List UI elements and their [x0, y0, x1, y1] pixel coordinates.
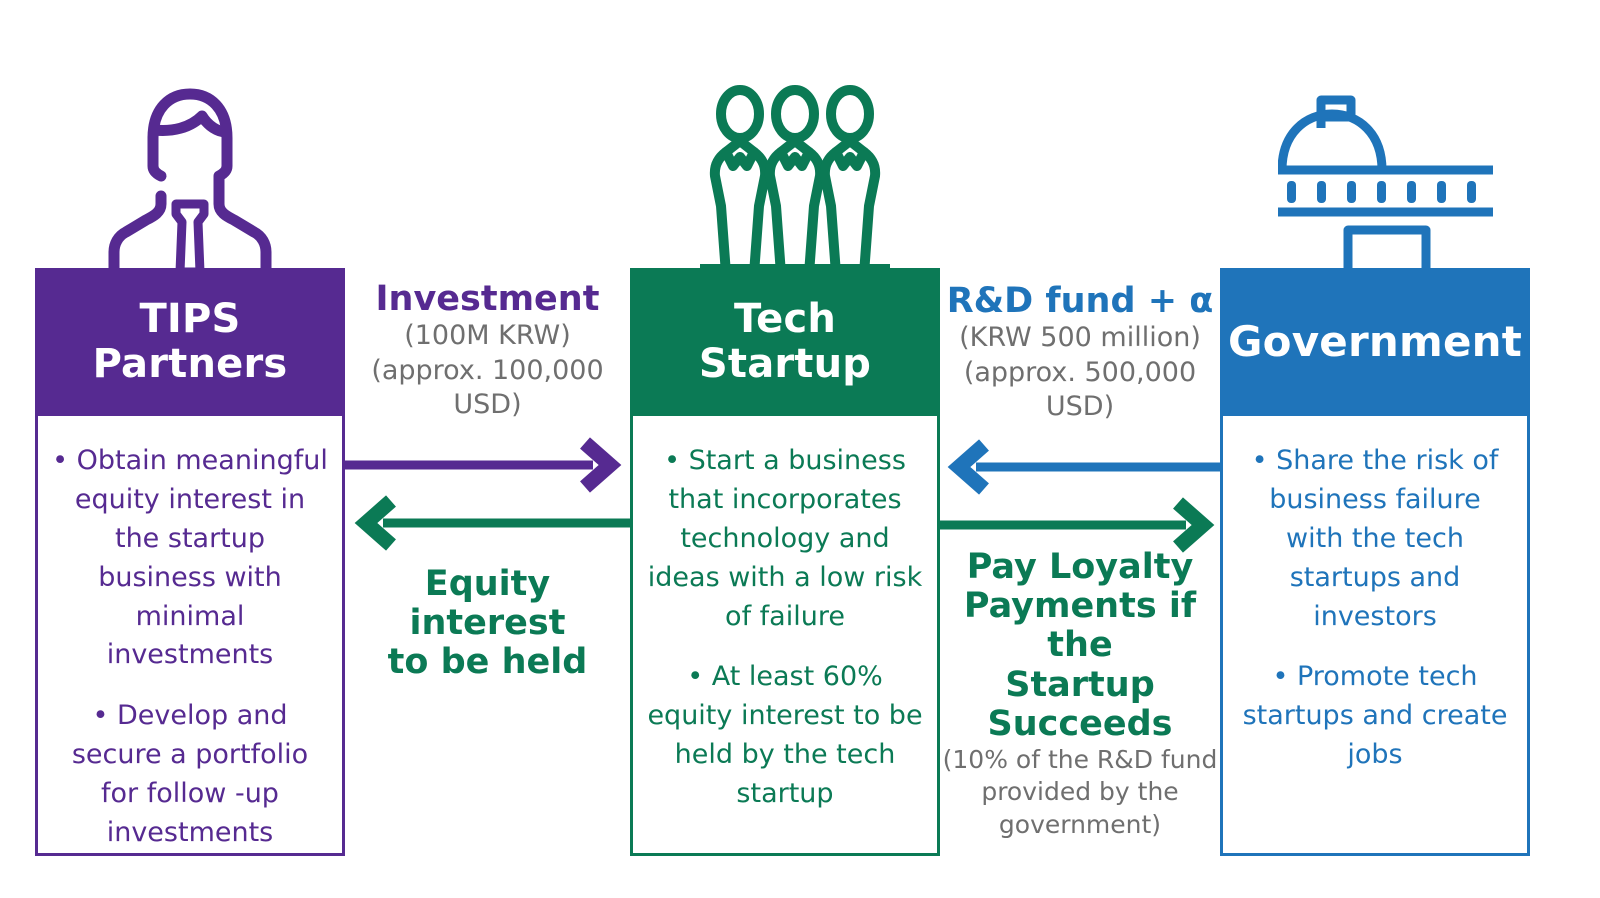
list-item: • Promote tech startups and create jobs [1237, 658, 1513, 775]
loyalty-payment-label-group: Pay Loyalty Payments if the Startup Succ… [940, 548, 1220, 841]
government-title: Government [1228, 318, 1522, 365]
list-item: • Start a business that incorporates tec… [647, 442, 923, 636]
list-item: • Share the risk of business failure wit… [1237, 442, 1513, 636]
loyalty-label-line1: Pay Loyalty [940, 548, 1220, 587]
column-tech-startup: Tech Startup • Start a business that inc… [630, 268, 940, 856]
equity-interest-label-line1: Equity interest [345, 565, 630, 643]
column-tips-partners: TIPS Partners • Obtain meaningful equity… [35, 268, 345, 856]
connector-startup-to-government: R&D fund + α (KRW 500 million) (approx. … [940, 282, 1220, 555]
list-item: • At least 60% equity interest to be hel… [647, 658, 923, 814]
tips-partners-title-line2: Partners [93, 341, 288, 387]
equity-interest-label-line2: to be held [345, 643, 630, 682]
tips-partners-title-line1: TIPS [139, 296, 240, 342]
loyalty-note-line2: provided by the [940, 776, 1220, 809]
equity-interest-label-group: Equity interest to be held [345, 565, 630, 683]
tips-partners-bullet-list: • Obtain meaningful equity interest in t… [52, 442, 328, 853]
list-item: • Obtain meaningful equity interest in t… [52, 442, 328, 675]
diagram-canvas: TIPS Partners • Obtain meaningful equity… [0, 0, 1600, 898]
tips-partners-header: TIPS Partners [35, 268, 345, 416]
rnd-and-loyalty-arrows [940, 425, 1220, 555]
tech-startup-header: Tech Startup [630, 268, 940, 416]
rnd-fund-amount-usd: (approx. 500,000 USD) [940, 356, 1220, 425]
list-item: • Develop and secure a portfolio for fol… [52, 697, 328, 853]
team-of-three-people-icon [700, 84, 890, 278]
government-building-icon [1278, 78, 1493, 282]
connector-tips-to-startup: Investment (100M KRW) (approx. 100,000 U… [345, 280, 630, 553]
investment-arrow [345, 423, 630, 553]
loyalty-note-line1: (10% of the R&D fund [940, 744, 1220, 777]
tech-startup-title-line1: Tech [734, 296, 836, 342]
investment-amount-krw: (100M KRW) [345, 319, 630, 354]
loyalty-note-line3: government) [940, 809, 1220, 842]
rnd-fund-label: R&D fund + α [940, 282, 1220, 321]
government-header: Government [1220, 268, 1530, 416]
loyalty-label-line3: Startup Succeeds [940, 666, 1220, 744]
government-bullet-list: • Share the risk of business failure wit… [1237, 442, 1513, 775]
tech-startup-body: • Start a business that incorporates tec… [630, 416, 940, 856]
businessperson-icon [90, 72, 290, 276]
investment-amount-usd: (approx. 100,000 USD) [345, 354, 630, 423]
column-government: Government • Share the risk of business … [1220, 268, 1530, 856]
rnd-fund-amount-krw: (KRW 500 million) [940, 321, 1220, 356]
government-body: • Share the risk of business failure wit… [1220, 416, 1530, 856]
tech-startup-title-line2: Startup [699, 341, 871, 387]
loyalty-label-line2: Payments if the [940, 587, 1220, 665]
tech-startup-bullet-list: • Start a business that incorporates tec… [647, 442, 923, 814]
investment-label: Investment [345, 280, 630, 319]
tips-partners-body: • Obtain meaningful equity interest in t… [35, 416, 345, 856]
